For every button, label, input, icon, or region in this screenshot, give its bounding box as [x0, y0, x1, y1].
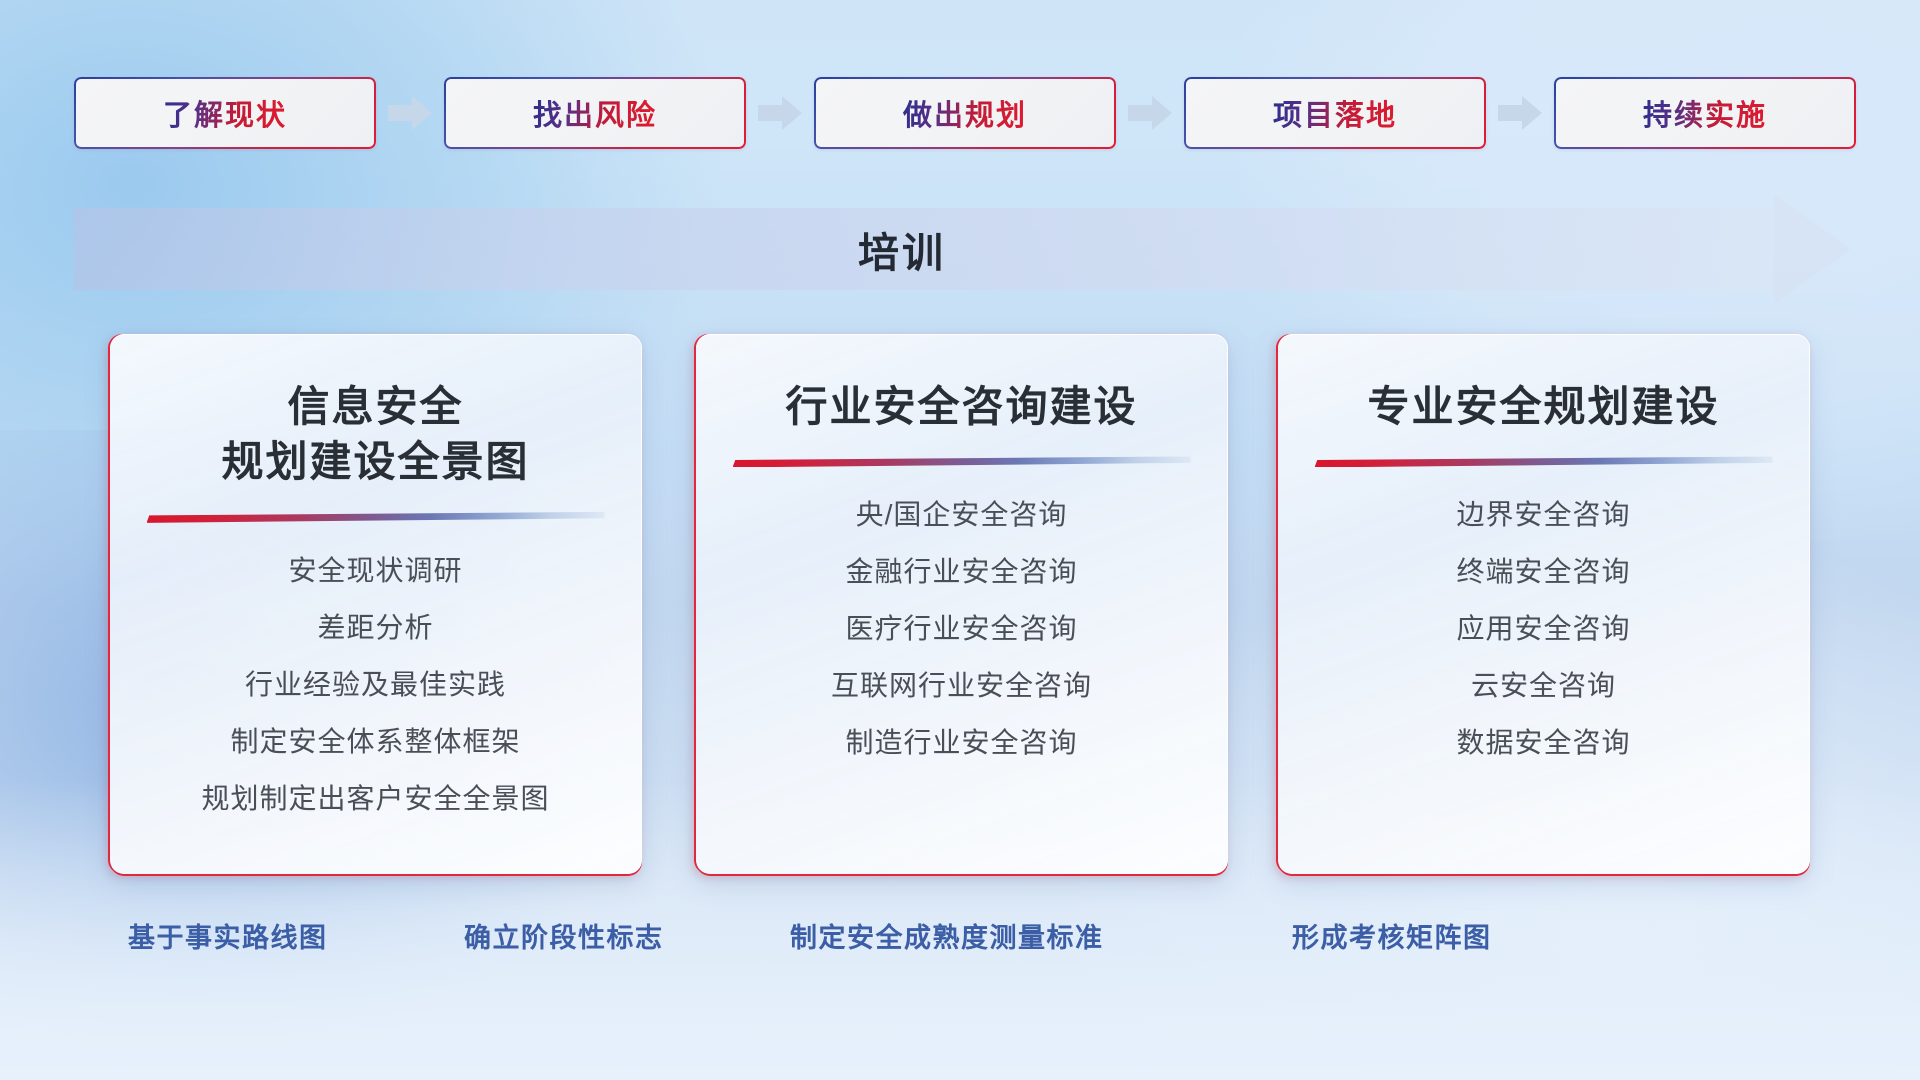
- feature-card-3[interactable]: 专业安全规划建设 边界安全咨询 终端安全咨询 应用安全咨询 云安全咨询 数据安全…: [1278, 334, 1810, 874]
- list-item: 安全现状调研: [110, 557, 641, 585]
- step-box-1[interactable]: 了解现状: [74, 77, 376, 149]
- step-box-3[interactable]: 做出规划: [814, 77, 1116, 149]
- footnote-row: 基于事实路线图 确立阶段性标志 制定安全成熟度测量标准 形成考核矩阵图: [0, 916, 1920, 972]
- footnote-label-2: 确立阶段性标志: [464, 916, 664, 955]
- feature-card-list-1: 安全现状调研 差距分析 行业经验及最佳实践 制定安全体系整体框架 规划制定出客户…: [110, 557, 641, 813]
- list-item: 规划制定出客户安全全景图: [110, 785, 641, 813]
- feature-card-2[interactable]: 行业安全咨询建设 央/国企安全咨询 金融行业安全咨询 医疗行业安全咨询 互联网行…: [696, 334, 1228, 874]
- feature-card-1[interactable]: 信息安全 规划建设全景图 安全现状调研 差距分析 行业经验及最佳实践 制定安全体…: [110, 334, 642, 874]
- step-arrow-icon-3: [1116, 77, 1184, 149]
- step-label-4: 项目落地: [1273, 92, 1397, 134]
- list-item: 云安全咨询: [1278, 672, 1809, 700]
- step-arrow-icon-4: [1486, 77, 1554, 149]
- list-item: 数据安全咨询: [1278, 729, 1809, 757]
- step-label-3: 做出规划: [903, 92, 1027, 134]
- step-box-2[interactable]: 找出风险: [444, 77, 746, 149]
- list-item: 制定安全体系整体框架: [110, 728, 641, 756]
- step-box-5[interactable]: 持续实施: [1554, 77, 1856, 149]
- list-item: 互联网行业安全咨询: [696, 672, 1227, 700]
- list-item: 行业经验及最佳实践: [110, 671, 641, 699]
- feature-card-title-1: 信息安全 规划建设全景图: [110, 379, 641, 490]
- footnote-label-3: 制定安全成熟度测量标准: [790, 916, 1104, 955]
- feature-card-list-2: 央/国企安全咨询 金融行业安全咨询 医疗行业安全咨询 互联网行业安全咨询 制造行…: [696, 501, 1227, 757]
- step-arrow-icon-1: [376, 77, 444, 149]
- step-label-5: 持续实施: [1643, 92, 1767, 134]
- list-item: 应用安全咨询: [1278, 615, 1809, 643]
- list-item: 金融行业安全咨询: [696, 558, 1227, 586]
- feature-card-title-2: 行业安全咨询建设: [696, 379, 1227, 434]
- list-item: 医疗行业安全咨询: [696, 615, 1227, 643]
- list-item: 制造行业安全咨询: [696, 729, 1227, 757]
- process-step-row: 了解现状 找出风险 做出规划 项目落地 持续实施: [0, 76, 1920, 150]
- list-item: 终端安全咨询: [1278, 558, 1809, 586]
- list-item: 央/国企安全咨询: [696, 501, 1227, 529]
- step-label-1: 了解现状: [163, 92, 287, 134]
- list-item: 边界安全咨询: [1278, 501, 1809, 529]
- feature-card-divider-1: [147, 512, 605, 523]
- step-box-4[interactable]: 项目落地: [1184, 77, 1486, 149]
- step-label-2: 找出风险: [533, 92, 657, 134]
- feature-card-divider-3: [1315, 456, 1773, 467]
- feature-card-title-3: 专业安全规划建设: [1278, 379, 1809, 434]
- step-arrow-icon-2: [746, 77, 814, 149]
- footnote-label-4: 形成考核矩阵图: [1292, 916, 1492, 955]
- feature-card-row: 信息安全 规划建设全景图 安全现状调研 差距分析 行业经验及最佳实践 制定安全体…: [0, 334, 1920, 894]
- list-item: 差距分析: [110, 614, 641, 642]
- footnote-label-1: 基于事实路线图: [128, 916, 328, 955]
- training-banner: 培训: [74, 208, 1850, 290]
- feature-card-list-3: 边界安全咨询 终端安全咨询 应用安全咨询 云安全咨询 数据安全咨询: [1278, 501, 1809, 757]
- training-banner-title: 培训: [74, 208, 1850, 290]
- feature-card-divider-2: [733, 456, 1191, 467]
